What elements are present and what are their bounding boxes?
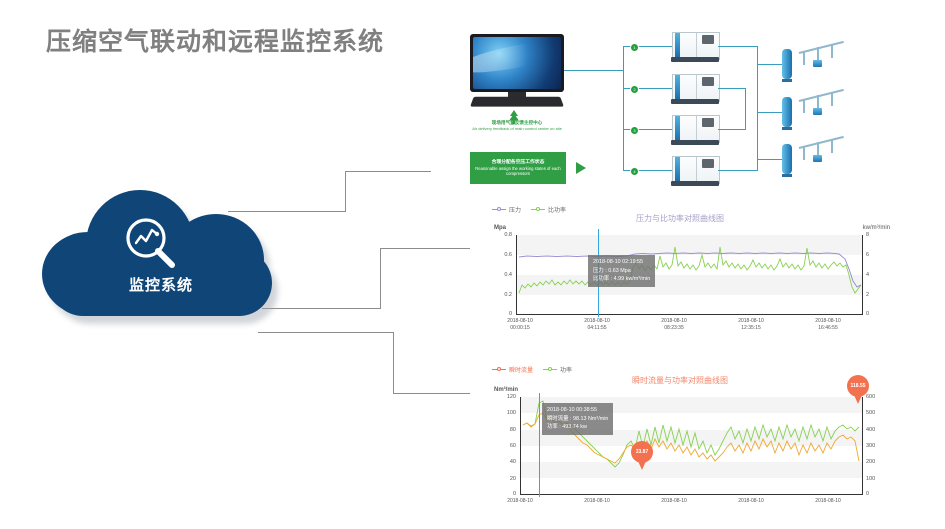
pipe-out-3 [718, 129, 746, 130]
cloud-label: 监控系统 [42, 274, 280, 295]
chart1-plot-area [516, 235, 862, 315]
pipe-to-tank-1 [757, 64, 782, 65]
diagram-caption: 现场用气量反馈主控中心 Air delivery feedback of mai… [458, 120, 576, 131]
min-marker[interactable]: 33.87 [631, 441, 653, 463]
chart2-tooltip: 2018-08-10 00:38:55 瞬时流量 : 98.13 Nm³/min… [542, 403, 613, 435]
chart1-tooltip-row-0: 压力 : 0.63 Mpa [593, 267, 650, 276]
legend-marker-power [543, 367, 557, 373]
diagram-caption-en: Air delivery feedback of main control ce… [458, 126, 576, 131]
chart1-tooltip-row-1: 比功率 : 4.99 kw/m³/min [593, 275, 650, 284]
node-dot-2: 2 [630, 85, 639, 94]
chart2-xtick-4: 2018-08-10 [800, 498, 856, 505]
chart1-xtick-2: 2018-08-1008:23:35 [646, 318, 702, 332]
chart2-cursor-line[interactable] [539, 393, 540, 497]
connector-1-vertical [345, 171, 346, 212]
chart2-legend: 瞬时流量 功率 [492, 365, 572, 374]
monitoring-cloud[interactable]: 监控系统 [42, 188, 292, 330]
chart2-y-axis-unit: Nm³/min [494, 387, 518, 393]
chart1-y2tick-3: 6 [866, 252, 869, 258]
legend-marker-specific-power [531, 207, 545, 213]
chart1-right-axis [862, 235, 863, 315]
legend-item-power[interactable]: 功率 [543, 365, 572, 374]
chart1-ytick-0: 0 [488, 311, 512, 317]
chart1-xtick-3: 2018-08-1012:35:15 [723, 318, 779, 332]
connector-3-horizontal-upper [258, 332, 394, 333]
pipe-left-bus [623, 46, 624, 170]
air-tank-2 [782, 97, 792, 127]
chart1-ytick-1: 0.2 [488, 292, 512, 298]
chart2-y2tick-5: 500 [866, 410, 875, 416]
chart2-ytick-1: 20 [490, 476, 516, 482]
chart2-right-axis [862, 397, 863, 495]
chart2-ytick-5: 100 [490, 410, 516, 416]
compressor-4 [672, 156, 718, 186]
chart2-tooltip-row-1: 功率 : 493.74 kw [547, 423, 608, 432]
chart2-ytick-6: 120 [490, 394, 516, 400]
page-title: 压缩空气联动和远程监控系统 [46, 22, 384, 58]
chart2-y2tick-4: 400 [866, 427, 875, 433]
chart2-y2tick-1: 100 [866, 476, 875, 482]
series-pressure-path [519, 253, 861, 287]
chart2-y2tick-0: 0 [866, 491, 869, 497]
chart2-xtick-2: 2018-08-10 [646, 498, 702, 505]
chart2-y2tick-6: 600 [866, 394, 875, 400]
chart1-ytick-2: 0.4 [488, 272, 512, 278]
chart1-y2tick-4: 8 [866, 232, 869, 238]
node-dot-1: 1 [630, 43, 639, 52]
air-tank-3 [782, 144, 792, 174]
max-marker[interactable]: 118.55 [847, 375, 869, 397]
chart2-ytick-4: 80 [490, 427, 516, 433]
plant-line-2 [797, 92, 845, 126]
chart2-y2tick-2: 200 [866, 459, 875, 465]
pipe-out-2 [718, 88, 746, 89]
chart1-xtick-1: 2018-08-1004:11:55 [569, 318, 625, 332]
chart2-xtick-1: 2018-08-10 [569, 498, 625, 505]
legend-marker-pressure [492, 207, 506, 213]
chart1-y2tick-1: 2 [866, 292, 869, 298]
desktop-monitor-icon [470, 34, 564, 106]
pipe-mid-bus [745, 88, 746, 129]
chart-magnifier-icon [120, 214, 180, 272]
legend-marker-flow [492, 367, 506, 373]
chart2-ytick-2: 40 [490, 459, 516, 465]
chart2-ytick-3: 60 [490, 443, 516, 449]
chart1-tooltip-timestamp: 2018-08-10 02:19:55 [593, 258, 650, 267]
legend-item-flow[interactable]: 瞬时流量 [492, 365, 533, 374]
pipe-out-4 [718, 170, 758, 171]
flow-power-chart: 瞬时流量 功率 瞬时流量与功率对照曲线图 Nm³/min 120 100 80 … [470, 363, 890, 523]
chart2-xtick-3: 2018-08-10 [723, 498, 779, 505]
air-tank-1 [782, 49, 792, 79]
chart1-y2tick-0: 0 [866, 311, 869, 317]
connector-3-vertical [393, 332, 394, 393]
connector-2-vertical [380, 248, 381, 309]
chart2-tooltip-timestamp: 2018-08-10 00:38:55 [547, 406, 608, 415]
pipe-monitor-to-bus [564, 70, 624, 71]
legend-label-flow: 瞬时流量 [509, 365, 533, 374]
chart2-y2tick-3: 300 [866, 443, 875, 449]
chart1-ytick-3: 0.6 [488, 252, 512, 258]
chart1-series-paths [517, 235, 863, 315]
chart1-y-axis-unit: Mpa [494, 225, 506, 231]
chart1-ytick-4: 0.8 [488, 232, 512, 238]
pipe-to-tank-2 [757, 112, 782, 113]
node-dot-3: 3 [630, 126, 639, 135]
connector-1-horizontal-upper [345, 171, 431, 172]
chart1-y2-axis-unit: kw/m³/min [863, 225, 890, 231]
chart1-tooltip: 2018-08-10 02:19:55 压力 : 0.63 Mpa 比功率 : … [588, 255, 655, 287]
connector-2-horizontal-upper [380, 248, 478, 249]
legend-label-power: 功率 [560, 365, 572, 374]
arrow-right-icon [576, 162, 586, 174]
slide-canvas: 压缩空气联动和远程监控系统 监控系统 [0, 0, 945, 529]
plant-line-3 [797, 139, 845, 173]
compressor-2 [672, 74, 718, 104]
pipe-to-tank-3 [757, 159, 782, 160]
assign-states-callout: 合理分配各空压工作状态 Reasonable assign the workin… [470, 152, 566, 184]
chart2-ytick-0: 0 [490, 491, 516, 497]
compressor-3 [672, 115, 718, 145]
chart1-title: 压力与比功率对照曲线图 [470, 213, 890, 224]
chart1-xtick-0: 2018-08-1000:00:15 [492, 318, 548, 332]
chart2-xtick-0: 2018-08-10 [492, 498, 548, 505]
chart1-y2tick-2: 4 [866, 272, 869, 278]
chart2-title: 瞬时流量与功率对照曲线图 [470, 375, 890, 386]
assign-states-en: Reasonable assign the working states of … [470, 166, 566, 177]
pipe-out-1 [718, 46, 758, 47]
plant-line-1 [797, 44, 845, 78]
connector-3-horizontal-lower [393, 393, 478, 394]
chart2-tooltip-row-0: 瞬时流量 : 98.13 Nm³/min [547, 415, 608, 424]
chart1-xtick-4: 2018-08-1016:46:55 [800, 318, 856, 332]
compressor-1 [672, 32, 718, 62]
pressure-specific-power-chart: 压力 比功率 压力与比功率对照曲线图 Mpa kw/m³/min 0.8 0.6… [470, 203, 890, 335]
compressed-air-system-diagram: 现场用气量反馈主控中心 Air delivery feedback of mai… [452, 24, 942, 204]
node-dot-4: 4 [630, 167, 639, 176]
